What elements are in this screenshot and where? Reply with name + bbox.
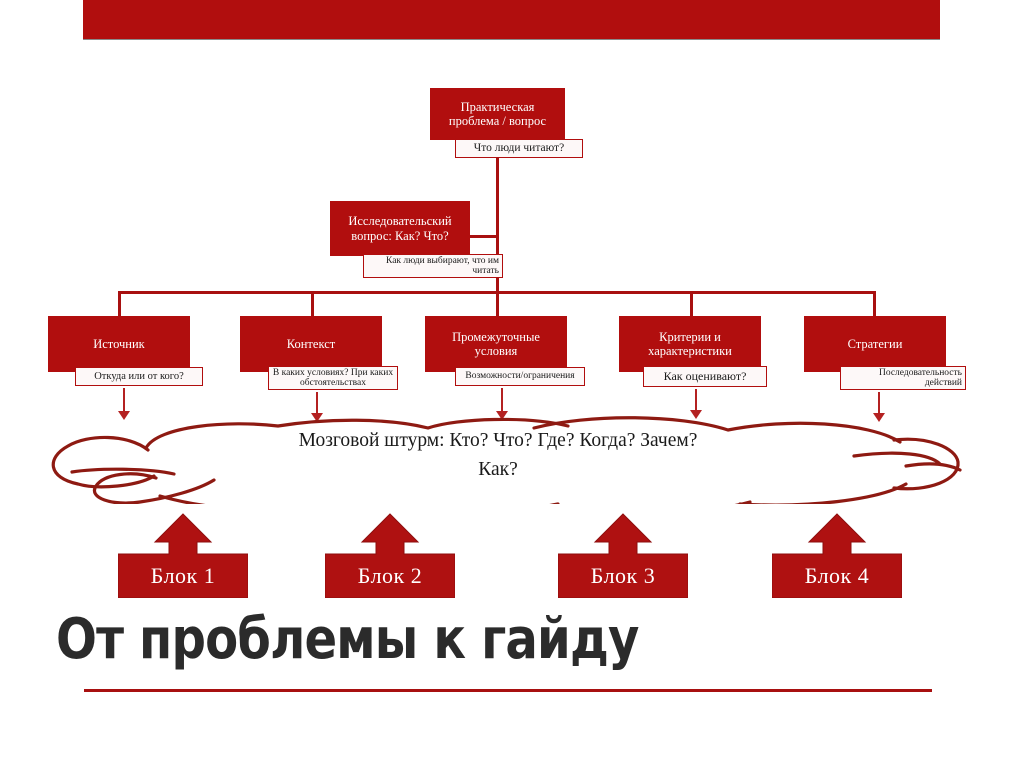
node-branch-criteria-title-line2: характеристики xyxy=(648,344,732,358)
label-branch-source-text: Откуда или от кого? xyxy=(94,371,184,383)
label-branch-context-text: В каких условиях? При каких обстоятельст… xyxy=(272,368,394,389)
node-practical-problem-title-line1: Практическая xyxy=(461,100,535,114)
label-branch-strategies[interactable]: Последовательность действий xyxy=(840,366,966,390)
brainstorm-cloud-line2: Как? xyxy=(178,455,818,484)
node-branch-criteria-title-line1: Критерии и xyxy=(659,330,721,344)
connector-research-stub xyxy=(466,235,499,238)
block-item-3-label: Блок 3 xyxy=(558,554,688,598)
connector-drop-intermediate xyxy=(496,291,499,319)
label-branch-context[interactable]: В каких условиях? При каких обстоятельст… xyxy=(268,366,398,390)
node-branch-source[interactable]: Источник xyxy=(48,316,190,372)
connector-drop-criteria xyxy=(690,291,693,319)
node-practical-problem[interactable]: Практическая проблема / вопрос xyxy=(430,88,565,140)
node-branch-intermediate-title-line1: Промежуточные xyxy=(452,330,540,344)
block-item-4[interactable]: Блок 4 xyxy=(772,512,902,598)
block-item-3[interactable]: Блок 3 xyxy=(558,512,688,598)
node-practical-problem-title-line2: проблема / вопрос xyxy=(449,114,546,128)
connector-drop-source xyxy=(118,291,121,319)
label-branch-intermediate[interactable]: Возможности/ограничения xyxy=(455,367,585,386)
node-branch-strategies-title-line1: Стратегии xyxy=(848,337,903,351)
node-branch-context-title-line1: Контекст xyxy=(287,337,335,351)
label-practical-problem[interactable]: Что люди читают? xyxy=(455,139,583,158)
label-branch-intermediate-text: Возможности/ограничения xyxy=(465,371,574,381)
node-branch-intermediate-title-line2: условия xyxy=(475,344,518,358)
node-branch-context[interactable]: Контекст xyxy=(240,316,382,372)
brainstorm-cloud-line1: Мозговой штурм: Кто? Что? Где? Когда? За… xyxy=(178,426,818,455)
block-item-2-label: Блок 2 xyxy=(325,554,455,598)
node-research-question-title-line2: вопрос: Как? Что? xyxy=(351,229,448,243)
connector-drop-strategies xyxy=(873,291,876,319)
brainstorm-cloud[interactable]: Мозговой штурм: Кто? Что? Где? Когда? За… xyxy=(28,412,968,504)
label-research-question-text: Как люди выбирают, что им читать xyxy=(367,256,499,277)
label-research-question[interactable]: Как люди выбирают, что им читать xyxy=(363,254,503,278)
block-item-4-label: Блок 4 xyxy=(772,554,902,598)
label-branch-criteria-text: Как оценивают? xyxy=(664,370,747,383)
label-branch-strategies-text: Последовательность действий xyxy=(844,368,962,389)
block-item-1[interactable]: Блок 1 xyxy=(118,512,248,598)
connector-drop-context xyxy=(311,291,314,319)
block-item-1-label: Блок 1 xyxy=(118,554,248,598)
label-practical-problem-text: Что люди читают? xyxy=(474,142,564,155)
node-branch-source-title-line1: Источник xyxy=(93,337,145,351)
page-title: От проблемы к гайду xyxy=(56,612,830,668)
connector-root-to-research xyxy=(496,158,499,236)
node-branch-intermediate[interactable]: Промежуточные условия xyxy=(425,316,567,372)
node-research-question[interactable]: Исследовательский вопрос: Как? Что? xyxy=(330,201,470,256)
brainstorm-cloud-text: Мозговой штурм: Кто? Что? Где? Когда? За… xyxy=(178,426,818,485)
footer-divider xyxy=(84,689,932,692)
node-research-question-title-line1: Исследовательский xyxy=(348,214,451,228)
node-branch-strategies[interactable]: Стратегии xyxy=(804,316,946,372)
node-branch-criteria[interactable]: Критерии и характеристики xyxy=(619,316,761,372)
label-branch-source[interactable]: Откуда или от кого? xyxy=(75,367,203,386)
top-banner xyxy=(83,0,940,40)
block-item-2[interactable]: Блок 2 xyxy=(325,512,455,598)
slide-canvas: Практическая проблема / вопрос Что люди … xyxy=(0,0,1024,767)
label-branch-criteria[interactable]: Как оценивают? xyxy=(643,366,767,387)
